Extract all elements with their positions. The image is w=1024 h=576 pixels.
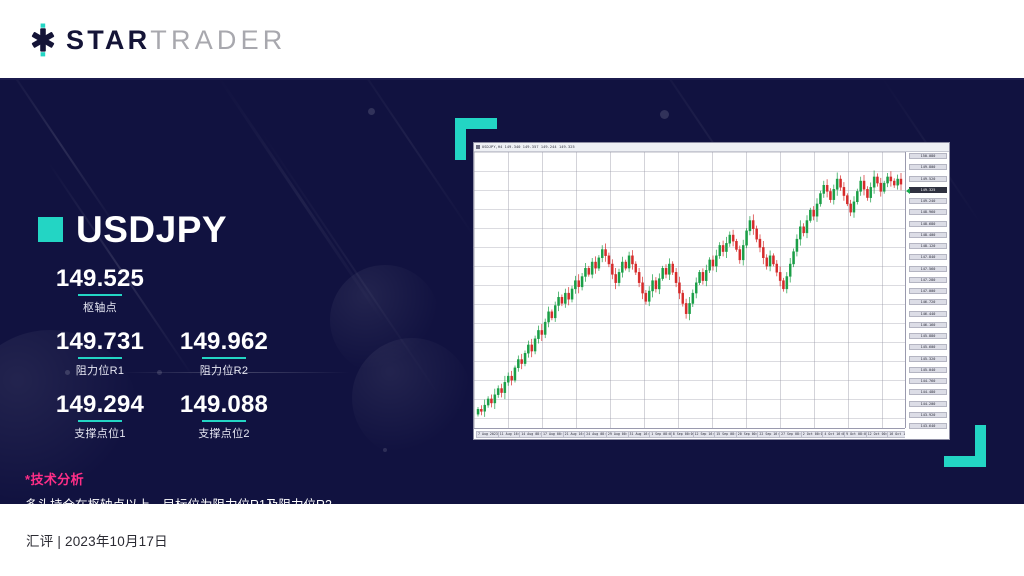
price-tick: 147.560 <box>909 266 947 272</box>
price-tick: 147.280 <box>909 277 947 283</box>
level-pivot-value: 149.525 <box>56 266 144 293</box>
page-header: STARTRADER <box>0 0 1024 80</box>
analysis-line-1: 多头持仓在枢轴点以上，目标位为阻力位R1及阻力位R2。 <box>25 495 407 504</box>
level-underline <box>202 420 246 422</box>
pivot-levels: 149.525 枢轴点 149.731 阻力位R1 149.962 阻力位R2 … <box>38 266 338 441</box>
asterisk-star-icon <box>26 23 60 57</box>
price-tick: 149.520 <box>909 176 947 182</box>
level-resistance-1-value: 149.731 <box>56 329 144 356</box>
level-support-1-label: 支撑点位1 <box>38 425 162 441</box>
price-tick: 146.160 <box>909 322 947 328</box>
instrument-bullet-icon <box>38 217 63 242</box>
level-pivot: 149.525 枢轴点 <box>38 266 162 315</box>
brand-name-bold: STAR <box>66 25 150 55</box>
level-support-2: 149.088 支撑点位2 <box>162 392 286 441</box>
price-tick: 144.480 <box>909 389 947 395</box>
price-axis[interactable]: 150.080149.800149.520149.325149.240148.9… <box>905 152 949 428</box>
level-resistance-2-label: 阻力位R2 <box>162 362 286 378</box>
level-resistance-2-value: 149.962 <box>180 329 268 356</box>
price-tick: 145.320 <box>909 356 947 362</box>
price-tick: 147.000 <box>909 288 947 294</box>
date-tick: 7 Aug 2023 <box>476 431 500 438</box>
brand-logo[interactable]: STARTRADER <box>26 23 287 57</box>
instrument-heading: USDJPY <box>38 211 227 248</box>
support-row: 149.294 支撑点位1 149.088 支撑点位2 <box>38 392 338 441</box>
level-resistance-1-label: 阻力位R1 <box>38 362 162 378</box>
chart-menu-icon[interactable] <box>476 145 480 149</box>
level-underline <box>78 420 122 422</box>
pivot-row: 149.525 枢轴点 <box>38 266 338 315</box>
price-tick: 143.920 <box>909 412 947 418</box>
price-chart-window[interactable]: USDJPY,H4 149.340 149.357 149.244 149.32… <box>473 142 950 440</box>
price-tick: 148.400 <box>909 232 947 238</box>
price-tick: 149.240 <box>909 198 947 204</box>
footer-caption: 汇评 | 2023年10月17日 <box>26 530 168 550</box>
price-tick: 144.760 <box>909 378 947 384</box>
analysis-block: *技术分析 多头持仓在枢轴点以上，目标位为阻力位R1及阻力位R2。 若低于枢轴点… <box>25 469 407 504</box>
price-tick: 145.880 <box>909 333 947 339</box>
level-support-1: 149.294 支撑点位1 <box>38 392 162 441</box>
level-pivot-label: 枢轴点 <box>38 299 162 315</box>
price-tick: 148.120 <box>909 243 947 249</box>
level-support-1-value: 149.294 <box>56 392 144 419</box>
price-tick: 146.440 <box>909 311 947 317</box>
date-axis[interactable]: 7 Aug 202311 Aug 16:0014 Aug 08:0017 Aug… <box>474 428 905 439</box>
price-tick: 145.040 <box>909 367 947 373</box>
page-footer: 汇评 | 2023年10月17日 <box>0 504 1024 576</box>
price-tick: 149.800 <box>909 164 947 170</box>
candlestick-series <box>474 152 905 428</box>
analysis-title: *技术分析 <box>25 469 407 488</box>
price-tick: 145.600 <box>909 344 947 350</box>
level-underline <box>78 294 122 296</box>
level-resistance-2: 149.962 阻力位R2 <box>162 329 286 378</box>
brand-wordmark: STARTRADER <box>66 27 287 54</box>
chart-bracket-bottom-right <box>944 425 986 467</box>
chart-plot-area[interactable] <box>474 152 905 428</box>
price-tick: 150.080 <box>909 153 947 159</box>
price-tick: 149.325 <box>909 187 947 193</box>
level-support-2-label: 支撑点位2 <box>162 425 286 441</box>
date-tick: 16 Oct 16:00 <box>887 431 905 438</box>
instrument-symbol: USDJPY <box>76 211 227 248</box>
level-underline <box>202 357 246 359</box>
chart-title: USDJPY,H4 149.340 149.357 149.244 149.32… <box>482 145 575 149</box>
brand-name-light: TRADER <box>150 25 286 55</box>
price-tick: 148.680 <box>909 221 947 227</box>
price-tick: 148.960 <box>909 209 947 215</box>
price-tick: 146.720 <box>909 299 947 305</box>
price-tick: 147.840 <box>909 254 947 260</box>
chart-titlebar: USDJPY,H4 149.340 149.357 149.244 149.32… <box>474 143 949 152</box>
price-tick: 144.200 <box>909 401 947 407</box>
analysis-body: 多头持仓在枢轴点以上，目标位为阻力位R1及阻力位R2。 若低于枢轴点，则可能下跌… <box>25 495 407 504</box>
level-support-2-value: 149.088 <box>180 392 268 419</box>
price-tick: 143.640 <box>909 423 947 429</box>
resistance-row: 149.731 阻力位R1 149.962 阻力位R2 <box>38 329 338 378</box>
main-panel: USDJPY 149.525 枢轴点 149.731 阻力位R1 149.962… <box>0 80 1024 504</box>
level-resistance-1: 149.731 阻力位R1 <box>38 329 162 378</box>
level-underline <box>78 357 122 359</box>
